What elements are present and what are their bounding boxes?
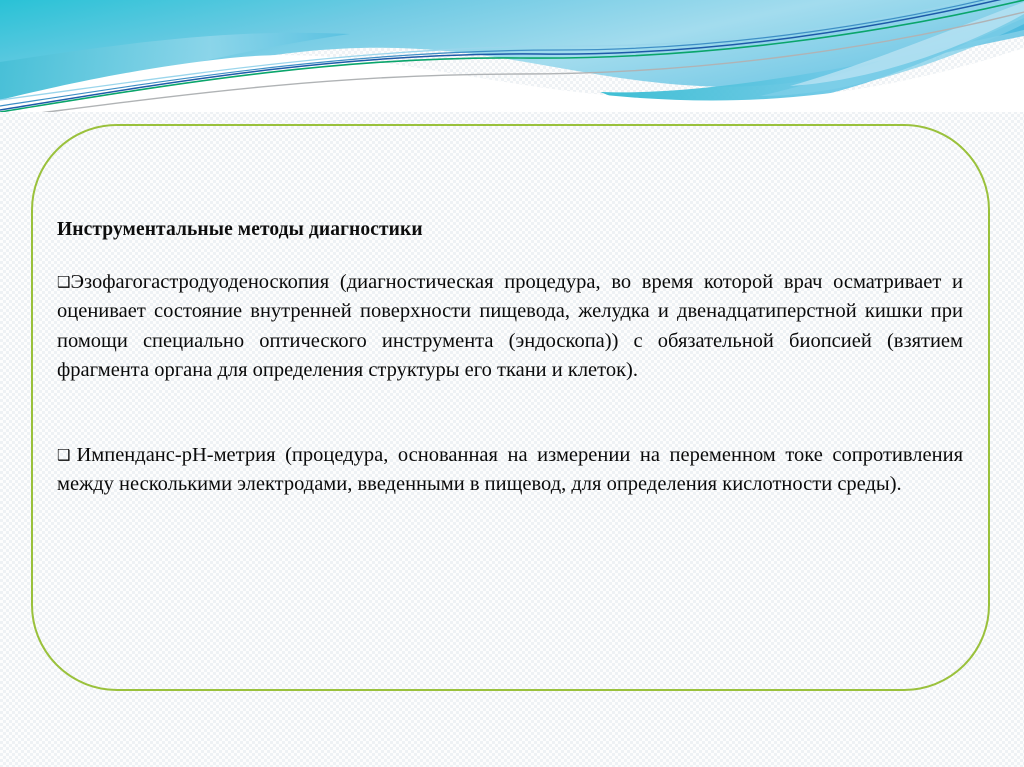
header-wave-decoration [0, 0, 1024, 112]
square-bullet-icon: ❑ [57, 446, 70, 464]
slide-canvas: Инструментальные методы диагностики ❑Эзо… [0, 0, 1024, 767]
bullet-text-1: Эзофагогастродуоденоскопия (диагностичес… [57, 271, 963, 380]
bullet-paragraph-2: ❑Импенданс-рН-метрия (процедура, основан… [57, 441, 963, 499]
bullet-paragraph-1: ❑Эзофагогастродуоденоскопия (диагностиче… [57, 268, 963, 384]
bullet-text-2: Импенданс-рН-метрия (процедура, основанн… [57, 444, 963, 495]
page-title: Инструментальные методы диагностики [57, 218, 963, 242]
square-bullet-icon: ❑ [57, 273, 70, 291]
slide-text-body: Инструментальные методы диагностики ❑Эзо… [57, 218, 963, 499]
